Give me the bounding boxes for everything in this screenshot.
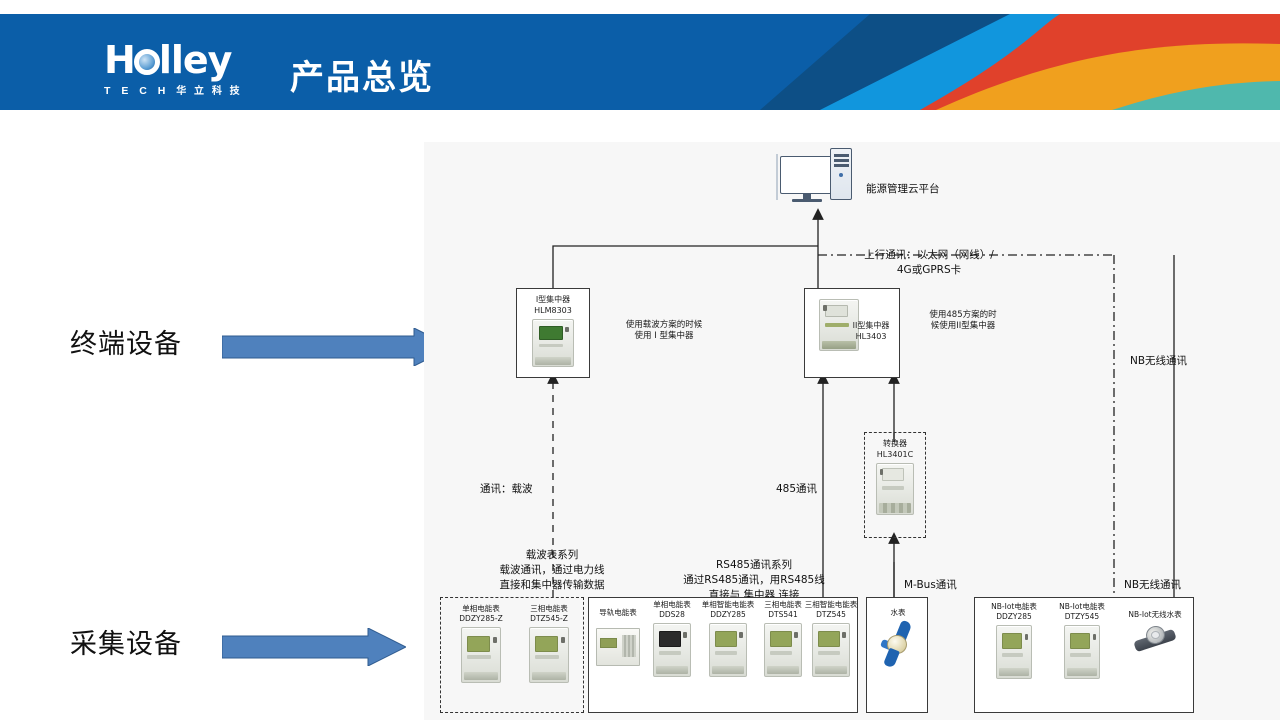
concentrator-type2-title: II型集中器 HL3403 [847,315,895,342]
collection-equipment-arrow-icon [222,628,406,671]
slide-header: Hlley T E C H 华 立 科 技 产品总览 [0,14,1280,110]
carrier-meter-group: 单相电能表 DDZY285-Z 三相电能表 DTZ545-Z [440,597,584,713]
electric-meter-icon [1064,625,1100,679]
rs485-meter-label-1: 导轨电能表 [599,608,637,618]
rs485-meter-item-5[interactable]: 三相智能电能表 DTZ545 [803,600,859,677]
electric-meter-icon [709,623,747,677]
rs485-meter-item-4[interactable]: 三相电能表 DTS541 [757,600,809,677]
din-rail-meter-icon [596,628,640,666]
rs485-meter-item-3[interactable]: 单相智能电能表 DDZY285 [699,600,757,677]
rs485-meter-label-2: 单相电能表 DDS28 [653,600,691,620]
header-decorative-swoosh [760,14,1280,110]
carrier-meter-item-2[interactable]: 三相电能表 DTZ545-Z [517,604,581,683]
carrier-meter-label-2: 三相电能表 DTZ545-Z [530,604,568,624]
rs485-meter-item-2[interactable]: 单相电能表 DDS28 [645,600,699,677]
water-meter-group: 水表 [866,597,928,713]
electric-meter-icon [996,625,1032,679]
nb-meter-item-1[interactable]: NB-Iot电能表 DDZY285 [983,602,1045,679]
rs485-meter-label-5: 三相智能电能表 DTZ545 [805,600,858,620]
logo-o-icon [134,49,160,75]
water-meter-label-1: 水表 [891,608,906,618]
electric-meter-icon [461,627,501,683]
concentrator-type1-caption: 使用载波方案的时候 使用 I 型集中器 [598,320,730,342]
link-label-nb-bottom: NB无线通讯 [1124,578,1181,593]
section-label-terminal-equipment: 终端设备 [70,322,182,361]
water-meter-item-1[interactable]: 水表 [871,608,925,667]
nb-meter-label-2: NB-Iot电能表 DTZY545 [1059,602,1105,622]
logo-letters-rest: lley [159,38,232,82]
electric-meter-icon [764,623,802,677]
page-title: 产品总览 [290,50,434,99]
logo-sub-cn: 华 立 科 技 [176,86,242,97]
nb-meter-item-2[interactable]: NB-Iot电能表 DTZY545 [1051,602,1113,679]
wireless-water-meter-icon [1132,623,1178,657]
concentrator-type2-caption: 使用485方案的时 候使用II型集中器 [908,310,1018,332]
electric-meter-icon [529,627,569,683]
carrier-meter-label-1: 单相电能表 DDZY285-Z [459,604,502,624]
section-label-collection-equipment: 采集设备 [70,622,182,661]
rs485-meter-label-3: 单相智能电能表 DDZY285 [702,600,755,620]
logo-letter-h: H [104,38,135,82]
link-label-mbus: M-Bus通讯 [904,578,957,593]
concentrator-type1-title: I型集中器 HLM8303 [534,289,572,316]
architecture-diagram: 能源管理云平台 上行通讯：以太网（网线）/ 4G或GPRS卡 I型集中器 HLM… [424,142,1280,720]
nb-meter-label-3: NB-Iot无线水表 [1128,610,1181,620]
logo-wordmark: Hlley [104,40,274,80]
link-label-carrier: 通讯：载波 [480,482,533,497]
terminal-equipment-arrow-icon [222,328,452,371]
electric-meter-dark-icon [653,623,691,677]
computer-icon [780,146,854,210]
electric-meter-icon [812,623,850,677]
converter-icon [876,463,914,515]
concentrator-type2-node[interactable]: II型集中器 HL3403 [804,288,900,378]
slide-root: Hlley T E C H 华 立 科 技 产品总览 终端设备 采集设备 [0,0,1280,720]
converter-title: 转换器 HL3401C [877,433,913,460]
cloud-platform-node [780,146,854,210]
link-label-485: 485通讯 [776,482,817,497]
logo-subtext: T E C H 华 立 科 技 [104,82,274,97]
concentrator-type1-node[interactable]: I型集中器 HLM8303 [516,288,590,378]
nb-meter-label-1: NB-Iot电能表 DDZY285 [991,602,1037,622]
link-label-nb-right: NB无线通讯 [1130,354,1187,369]
nb-meter-group: NB-Iot电能表 DDZY285 NB-Iot电能表 DTZY545 NB-I… [974,597,1194,713]
rs485-meter-label-4: 三相电能表 DTS541 [764,600,802,620]
concentrator-type1-icon [532,319,574,367]
rs485-meter-group: 导轨电能表 单相电能表 DDS28 单相智能电能表 DDZY285 [588,597,858,713]
converter-node[interactable]: 转换器 HL3401C [864,432,926,538]
carrier-meter-item-1[interactable]: 单相电能表 DDZY285-Z [449,604,513,683]
holley-logo: Hlley T E C H 华 立 科 技 [104,40,274,98]
uplink-communication-note: 上行通讯：以太网（网线）/ 4G或GPRS卡 [824,248,1034,278]
water-meter-icon [878,621,918,667]
rs485-meter-item-1[interactable]: 导轨电能表 [591,608,645,666]
cloud-platform-label: 能源管理云平台 [866,182,940,197]
logo-sub-en: T E C H [104,85,169,97]
nb-meter-item-3[interactable]: NB-Iot无线水表 [1121,610,1189,657]
